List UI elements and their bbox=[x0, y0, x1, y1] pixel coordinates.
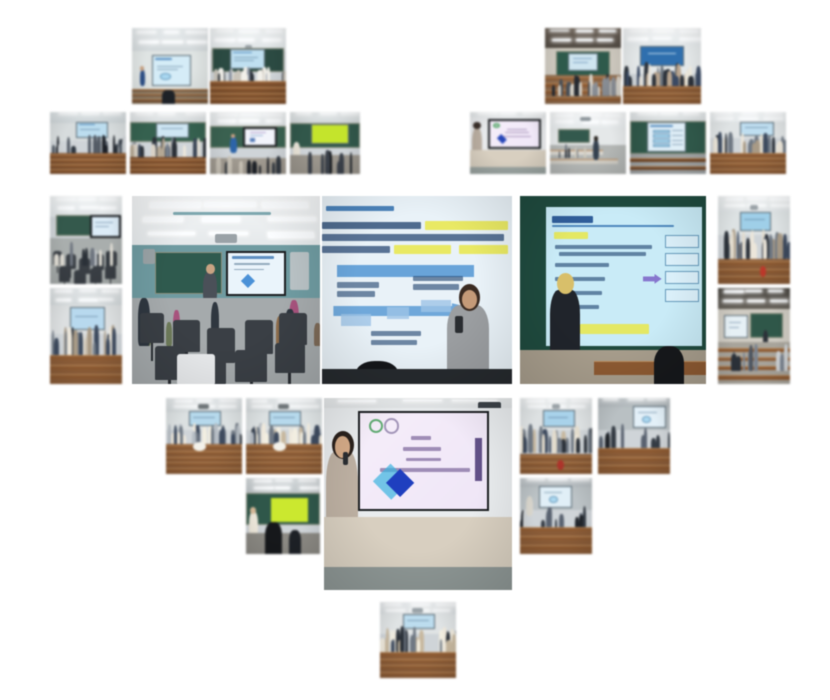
photo-scene bbox=[132, 196, 320, 384]
photo-scene bbox=[623, 28, 701, 104]
collage-photo-p19[interactable]: Classroom with projected slide and scatt… bbox=[718, 288, 790, 384]
collage-photo-p20[interactable]: Large auditorium assembly with full audi… bbox=[166, 398, 242, 474]
collage-photo-p23[interactable]: Female presenter with microphone before … bbox=[324, 398, 512, 590]
collage-photo-p07[interactable]: Speaker presenting beside projection scr… bbox=[210, 112, 286, 174]
collage-photo-p13[interactable]: Seminar room, seated students facing scr… bbox=[50, 196, 122, 284]
collage-photo-p11[interactable]: Classroom with blue flowchart slide on s… bbox=[630, 112, 706, 174]
photo-scene bbox=[520, 478, 592, 554]
collage-photo-p01[interactable]: Lecture hall with projector screen and s… bbox=[132, 28, 208, 104]
photo-scene bbox=[718, 288, 790, 384]
collage-photo-p10[interactable]: Seminar room with long tables and walkin… bbox=[550, 112, 626, 174]
photo-scene bbox=[710, 112, 786, 174]
collage-photo-p16[interactable]: Speaker with microphone in front of slid… bbox=[322, 196, 512, 384]
collage-photo-p02[interactable]: Auditorium with audience standing and la… bbox=[210, 28, 286, 104]
collage-photo-p06[interactable]: Students standing in classroom aisle bbox=[130, 112, 206, 174]
photo-scene bbox=[132, 28, 208, 104]
collage-photo-p14[interactable]: Auditorium group portrait in front of sc… bbox=[50, 288, 122, 384]
photo-scene bbox=[324, 398, 512, 590]
photo-scene bbox=[598, 398, 670, 474]
photo-scene bbox=[246, 478, 320, 554]
collage-photo-p05[interactable]: Lecture hall audience viewed from back r… bbox=[50, 112, 126, 174]
collage-photo-p21[interactable]: Large auditorium assembly, second angle bbox=[246, 398, 322, 474]
photo-scene bbox=[50, 288, 122, 384]
photo-scene bbox=[246, 398, 322, 474]
photo-scene bbox=[380, 602, 456, 678]
photo-scene bbox=[50, 112, 126, 174]
photo-scene bbox=[520, 196, 706, 384]
collage-photo-p08[interactable]: Green slide projected on classroom scree… bbox=[290, 112, 360, 174]
collage-photo-p24[interactable]: Group photo of attendees in lecture hall bbox=[520, 398, 592, 474]
photo-scene bbox=[130, 112, 206, 174]
collage-photo-p22[interactable]: Classroom with bright green projected sl… bbox=[246, 478, 320, 554]
photo-scene bbox=[630, 112, 706, 174]
photo-scene bbox=[210, 28, 286, 104]
photo-scene bbox=[50, 196, 122, 284]
collage-photo-p09[interactable]: Presenter in front of pink title slide bbox=[470, 112, 546, 174]
photo-scene bbox=[545, 28, 621, 104]
photo-scene bbox=[550, 112, 626, 174]
photo-scene bbox=[520, 398, 592, 474]
collage-photo-p15[interactable]: Modern classroom, instructor at green bo… bbox=[132, 196, 320, 384]
collage-photo-p25[interactable]: Students seated at wooden lecture benche… bbox=[598, 398, 670, 474]
collage-photo-p18[interactable]: Group of students posing in lecture hall bbox=[718, 196, 790, 284]
photo-scene bbox=[210, 112, 286, 174]
collage-photo-p26[interactable]: Students seated at wooden benches, secon… bbox=[520, 478, 592, 554]
collage-photo-p12[interactable]: Large group standing in tiered lecture h… bbox=[710, 112, 786, 174]
collage-photo-p04[interactable]: Group of attendees standing in front of … bbox=[623, 28, 701, 104]
collage-photo-p27[interactable]: Full assembly group photo in auditorium bbox=[380, 602, 456, 678]
photo-scene bbox=[290, 112, 360, 174]
photo-scene bbox=[322, 196, 512, 384]
collage-photo-p17[interactable]: Speaker in front of blue slide listing a… bbox=[520, 196, 706, 384]
photo-collage: Lecture hall with projector screen and s… bbox=[0, 0, 830, 700]
collage-photo-p03[interactable]: Classroom with chalkboard and projected … bbox=[545, 28, 621, 104]
photo-scene bbox=[166, 398, 242, 474]
photo-scene bbox=[470, 112, 546, 174]
photo-scene bbox=[718, 196, 790, 284]
